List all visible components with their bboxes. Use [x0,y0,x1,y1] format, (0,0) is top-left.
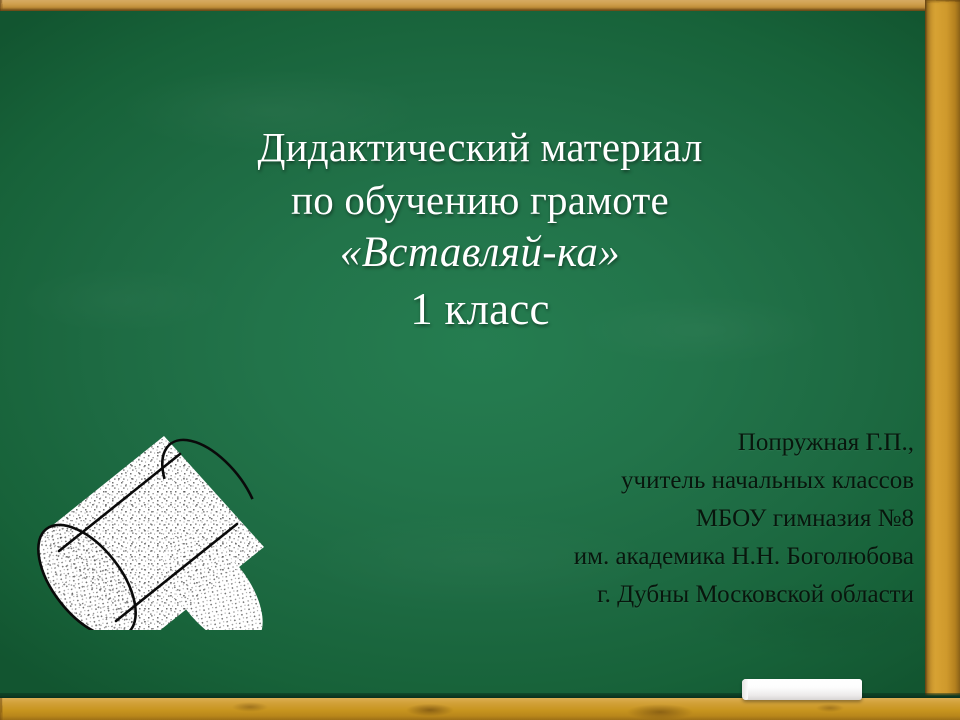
chalk-cylinder-illustration [12,418,278,630]
title-line-2: по обучению грамоте [80,179,880,222]
slide-title-block: Дидактический материал по обучению грамо… [80,126,880,333]
credit-line-school-name: им. академика Н.Н. Боголюбова [394,538,914,576]
wooden-chalk-ledge [0,698,960,720]
credit-line-position: учитель начальных классов [394,462,914,500]
wooden-frame-top [0,0,960,11]
credit-line-author: Попружная Г.П., [394,424,914,462]
author-credits-block: Попружная Г.П., учитель начальных классо… [394,424,914,614]
presentation-slide: Дидактический материал по обучению грамо… [0,0,960,720]
credit-line-city: г. Дубны Московской области [394,576,914,614]
title-line-1: Дидактический материал [80,126,880,169]
credit-line-school: МБОУ гимназия №8 [394,500,914,538]
wooden-frame-right [925,0,960,720]
chalk-stick-on-ledge [742,679,862,700]
title-line-3: «Вставляй-ка» [80,231,880,276]
title-line-grade: 1 класс [80,286,880,333]
